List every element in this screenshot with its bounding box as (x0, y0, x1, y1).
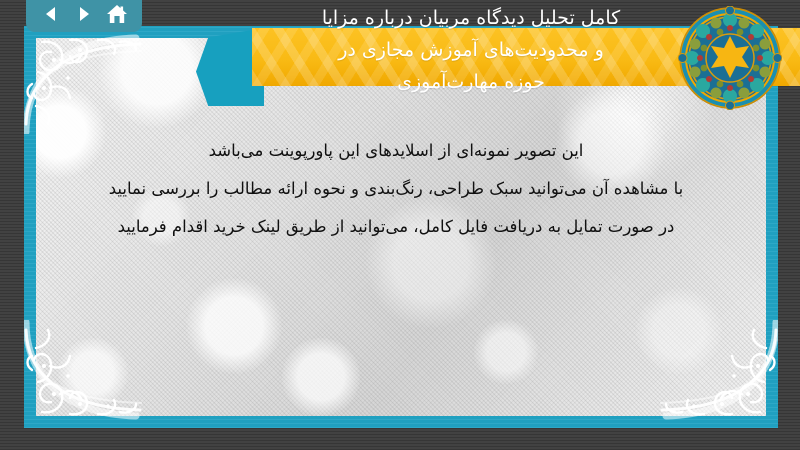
navigation-bar (26, 0, 142, 32)
corner-ornament-icon (660, 320, 778, 428)
body-line-2: با مشاهده آن می‌توانید سبک طراحی، رنگ‌بن… (44, 170, 748, 208)
body-text: این تصویر نمونه‌ای از اسلایدهای این پاور… (44, 132, 748, 246)
forward-icon (74, 4, 94, 24)
back-icon (41, 4, 61, 24)
decorative-medallion (678, 6, 782, 110)
body-line-3: در صورت تمایل به دریافت فایل کامل، می‌تو… (44, 208, 748, 246)
body-line-1: این تصویر نمونه‌ای از اسلایدهای این پاور… (44, 132, 748, 170)
slide-canvas: کامل تحلیل دیدگاه مربیان درباره مزایا و … (0, 0, 800, 450)
corner-ornament-icon (24, 320, 142, 428)
back-button[interactable] (38, 1, 64, 27)
home-icon (106, 3, 128, 25)
corner-ornament-icon (24, 26, 142, 134)
home-button[interactable] (104, 1, 130, 27)
forward-button[interactable] (71, 1, 97, 27)
page-title: کامل تحلیل دیدگاه مربیان درباره مزایا و … (250, 2, 692, 98)
